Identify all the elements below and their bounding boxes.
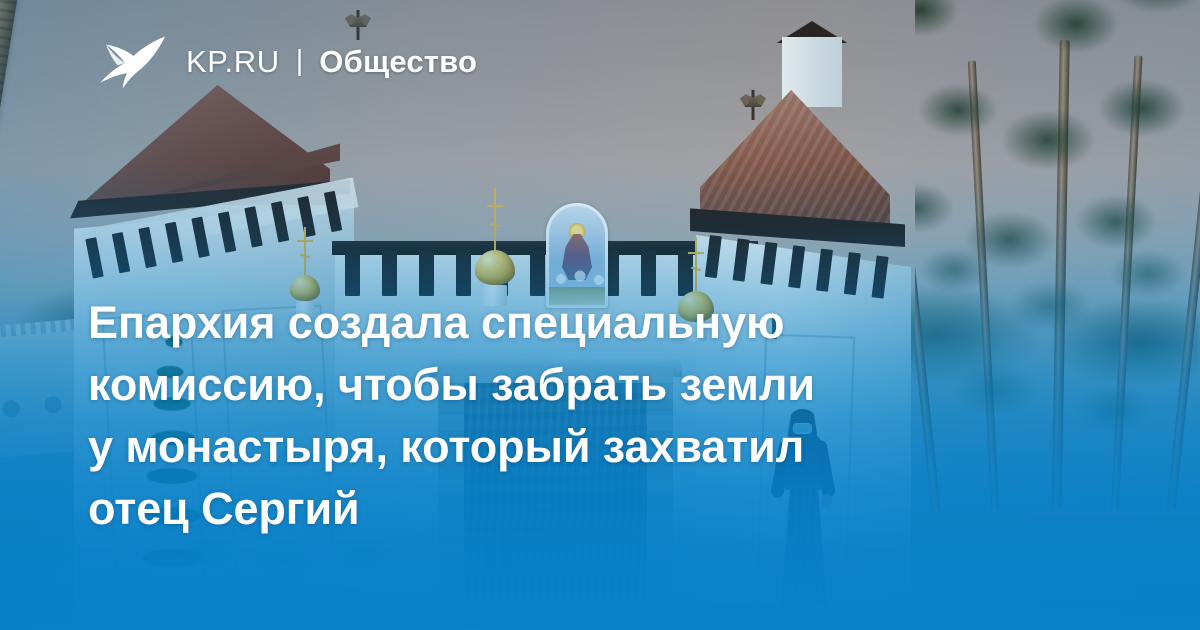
headline-line: Епархия создала специальную (88, 292, 1038, 354)
orthodox-cross-icon (304, 227, 306, 275)
site-header: KP.RU | Общество (96, 32, 477, 90)
headline-line: у монастыря, который захватил (88, 416, 1038, 478)
header-separator: | (296, 47, 304, 76)
orthodox-cross-icon (695, 237, 697, 291)
swallow-bird-logo-icon[interactable] (96, 32, 168, 90)
distant-person (502, 535, 511, 569)
headline-line: комиссию, чтобы забрать земли (88, 354, 1038, 416)
headline-line: отец Сергий (88, 478, 1038, 540)
double-headed-eagle-finial-icon (740, 90, 766, 120)
orthodox-cross-icon (494, 188, 496, 250)
distant-person (486, 547, 494, 571)
cloud-ornament (549, 263, 605, 289)
rubric-label[interactable]: Общество (319, 46, 477, 77)
news-share-card: KP.RU | Общество Епархия создала специал… (0, 0, 1200, 630)
article-headline: Епархия создала специальную комиссию, чт… (88, 292, 1038, 540)
brand-name[interactable]: KP.RU (186, 46, 280, 77)
right-tower-tent-roof (700, 90, 890, 225)
